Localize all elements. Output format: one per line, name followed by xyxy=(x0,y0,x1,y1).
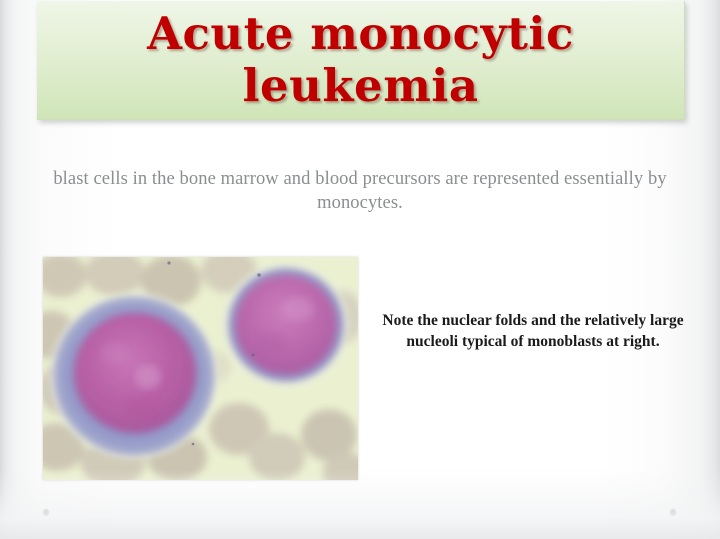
image-caption: Note the nuclear folds and the relativel… xyxy=(378,310,688,352)
bullet-dot-left xyxy=(43,509,49,516)
micrograph-image xyxy=(43,257,358,480)
bullet-dot-right xyxy=(670,509,676,516)
slide-canvas: Acute monocytic leukemia blast cells in … xyxy=(0,0,720,539)
micrograph-svg xyxy=(43,257,358,480)
title-banner: Acute monocytic leukemia xyxy=(37,1,685,120)
subtitle-text: blast cells in the bone marrow and blood… xyxy=(52,167,668,215)
page-title: Acute monocytic leukemia xyxy=(137,8,584,112)
